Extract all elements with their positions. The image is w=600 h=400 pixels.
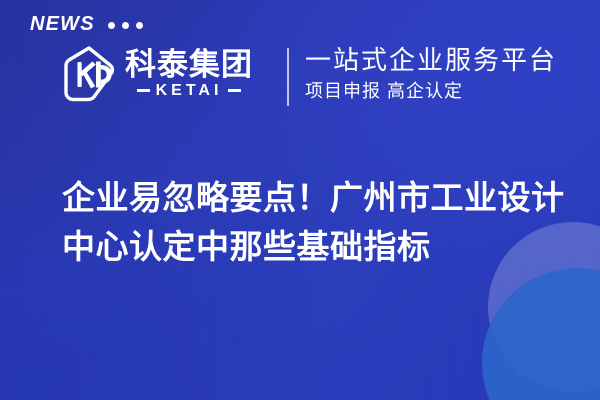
dot-icon: [122, 22, 129, 29]
dot-icon: [136, 22, 143, 29]
news-dots-icon: [108, 22, 143, 29]
tagline-main: 一站式企业服务平台: [305, 44, 557, 77]
decorative-circle-bright: [482, 268, 600, 400]
brand-wordmark: 科泰集团 KETAI: [125, 49, 253, 99]
rule-left: [137, 89, 150, 92]
news-banner: NEWS 科泰集团 KETA: [0, 0, 600, 400]
news-label: NEWS: [30, 14, 95, 34]
brand-lockup: 科泰集团 KETAI: [62, 44, 253, 104]
tagline-block: 一站式企业服务平台 项目申报 高企认定: [305, 44, 557, 104]
ketai-diamond-kd-logo-icon: [62, 44, 116, 104]
headline-title: 企业易忽略要点！广州市工业设计中心认定中那些基础指标: [62, 174, 572, 271]
vertical-divider: [287, 48, 289, 106]
brand-name-en-row: KETAI: [125, 83, 253, 99]
brand-name-en: KETAI: [156, 83, 223, 99]
rule-right: [228, 89, 241, 92]
dot-icon: [108, 22, 115, 29]
tagline-sub: 项目申报 高企认定: [305, 79, 557, 104]
news-eyebrow: NEWS: [30, 14, 143, 34]
brand-name-cn: 科泰集团: [125, 49, 253, 82]
